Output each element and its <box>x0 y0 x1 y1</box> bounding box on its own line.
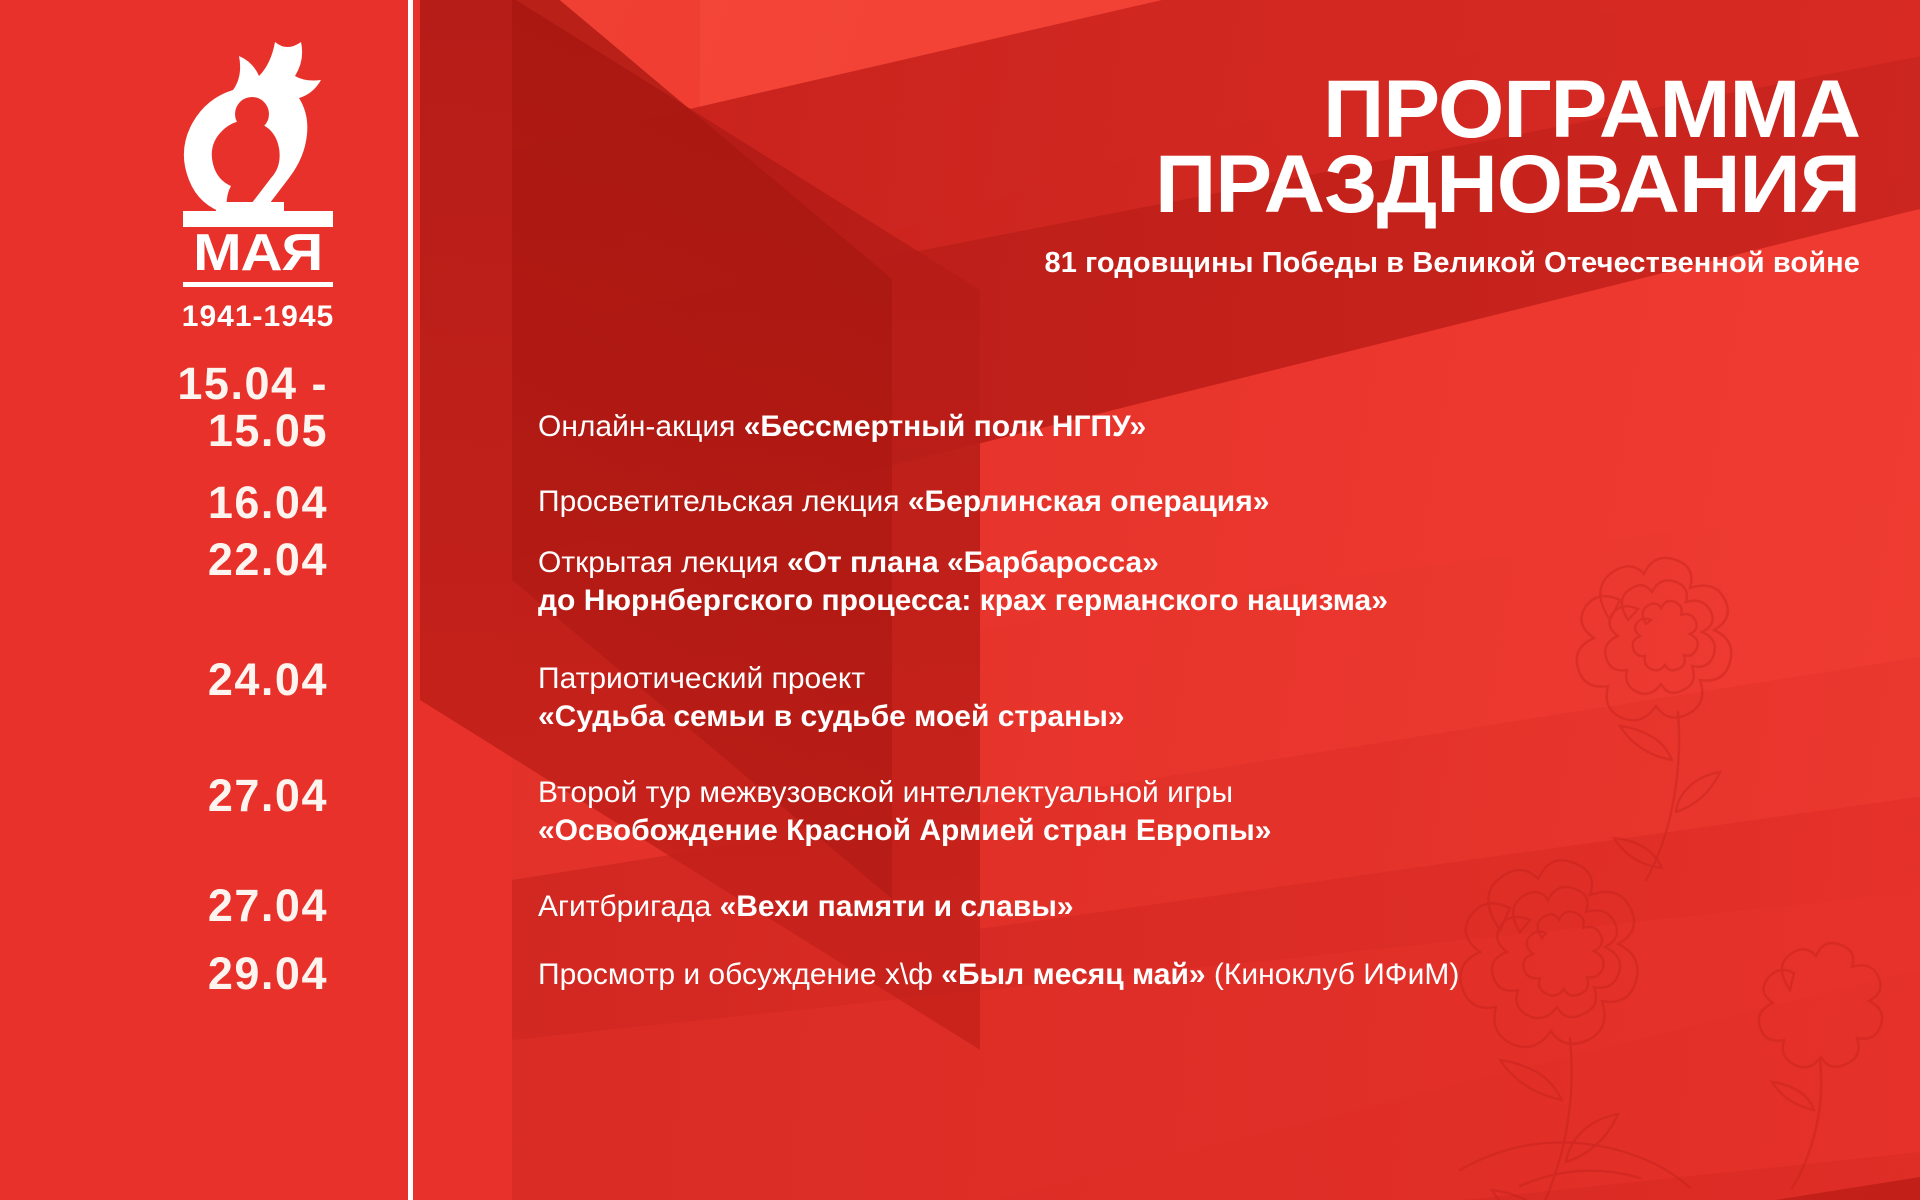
event-title-text: «Берлинская операция» <box>908 485 1270 518</box>
event-type-text: Просмотр и обсуждение х\ф <box>538 958 941 991</box>
schedule-description: Патриотический проект«Судьба семьи в суд… <box>408 660 1920 736</box>
event-type-text: Открытая лекция <box>538 546 787 579</box>
schedule-description: Онлайн-акция «Бессмертный полк НГПУ» <box>408 408 1920 446</box>
schedule-description: Просмотр и обсуждение х\ф «Был месяц май… <box>408 956 1920 994</box>
schedule-date: 27.04 <box>0 772 408 819</box>
schedule-date-primary: 24.04 <box>208 654 328 705</box>
schedule-date: 16.04 <box>0 479 408 526</box>
schedule-date-secondary: 15.05 <box>0 407 328 454</box>
schedule-date: 27.04 <box>0 882 408 929</box>
page-subtitle: 81 годовщины Победы в Великой Отечествен… <box>740 247 1860 280</box>
victory-day-program-poster: МАЯ 1941-1945 ПРОГРАММА ПРАЗДНОВАНИЯ 81 … <box>0 0 1920 1200</box>
schedule-date-primary: 16.04 <box>208 477 328 528</box>
logo-bar-bottom <box>183 282 333 287</box>
schedule-row: 27.04Агитбригада «Вехи памяти и славы» <box>0 888 1920 929</box>
page-title-line-2: ПРАЗДНОВАНИЯ <box>695 147 1860 222</box>
schedule-description-line: Просветительская лекция «Берлинская опер… <box>538 483 1920 521</box>
schedule-description-line: Онлайн-акция «Бессмертный полк НГПУ» <box>538 408 1920 446</box>
logo-month-label: МАЯ <box>193 230 322 278</box>
schedule-description-line: Патриотический проект <box>538 660 1920 698</box>
event-note-text: (Киноклуб ИФиМ) <box>1206 958 1460 991</box>
schedule-description-line: Второй тур межвузовской интеллектуальной… <box>538 774 1920 812</box>
schedule-date-primary: 27.04 <box>208 880 328 931</box>
schedule-row: 22.04Открытая лекция «От плана «Барбарос… <box>0 544 1920 620</box>
schedule-description-line: «Освобождение Красной Армией стран Европ… <box>538 812 1920 850</box>
schedule-description: Просветительская лекция «Берлинская опер… <box>408 483 1920 521</box>
schedule-row: 27.04Второй тур межвузовской интеллектуа… <box>0 774 1920 850</box>
event-type-text: Просветительская лекция <box>538 485 908 518</box>
schedule-date-primary: 27.04 <box>208 770 328 821</box>
event-title-text: «Вехи памяти и славы» <box>720 890 1074 923</box>
victory-day-logo: МАЯ 1941-1945 <box>108 40 408 334</box>
logo-years: 1941-1945 <box>182 300 334 334</box>
header-block: ПРОГРАММА ПРАЗДНОВАНИЯ 81 годовщины Побе… <box>740 72 1860 280</box>
schedule-description-line: «Судьба семьи в судьбе моей страны» <box>538 698 1920 736</box>
schedule-row: 16.04Просветительская лекция «Берлинская… <box>0 483 1920 526</box>
schedule-description-line: Просмотр и обсуждение х\ф «Был месяц май… <box>538 956 1920 994</box>
schedule-date: 24.04 <box>0 656 408 703</box>
schedule-row: 24.04Патриотический проект«Судьба семьи … <box>0 660 1920 736</box>
event-type-text: Онлайн-акция <box>538 410 744 443</box>
schedule-description: Второй тур межвузовской интеллектуальной… <box>408 774 1920 850</box>
schedule-description-line: Агитбригада «Вехи памяти и славы» <box>538 888 1920 926</box>
schedule-date-primary: 29.04 <box>208 948 328 999</box>
event-title-text: до Нюрнбергского процесса: крах германск… <box>538 584 1388 617</box>
schedule-description-line: Открытая лекция «От плана «Барбаросса» <box>538 544 1920 582</box>
schedule-date-primary: 15.04 - <box>177 358 328 409</box>
schedule-date: 15.04 -15.05 <box>0 360 408 455</box>
event-title-text: «Был месяц май» <box>941 958 1205 991</box>
schedule-description: Агитбригада «Вехи памяти и славы» <box>408 888 1920 926</box>
schedule-date-primary: 22.04 <box>208 534 328 585</box>
event-title-text: «Освобождение Красной Армией стран Европ… <box>538 814 1271 847</box>
event-title-text: «Бессмертный полк НГПУ» <box>744 410 1146 443</box>
event-type-text: Патриотический проект <box>538 662 865 695</box>
schedule-date: 22.04 <box>0 536 408 583</box>
schedule-row: 15.04 -15.05Онлайн-акция «Бессмертный по… <box>0 408 1920 455</box>
schedule-description: Открытая лекция «От плана «Барбаросса»до… <box>408 544 1920 620</box>
event-title-text: «Судьба семьи в судьбе моей страны» <box>538 700 1125 733</box>
event-title-text: «От плана «Барбаросса» <box>787 546 1159 579</box>
program-schedule: 15.04 -15.05Онлайн-акция «Бессмертный по… <box>0 408 1920 1003</box>
page-title-line-1: ПРОГРАММА <box>695 72 1860 147</box>
schedule-row: 29.04Просмотр и обсуждение х\ф «Был меся… <box>0 956 1920 997</box>
schedule-date: 29.04 <box>0 950 408 997</box>
eternal-flame-nine-icon <box>178 40 338 215</box>
event-type-text: Агитбригада <box>538 890 720 923</box>
event-type-text: Второй тур межвузовской интеллектуальной… <box>538 776 1233 809</box>
schedule-description-line: до Нюрнбергского процесса: крах германск… <box>538 582 1920 620</box>
